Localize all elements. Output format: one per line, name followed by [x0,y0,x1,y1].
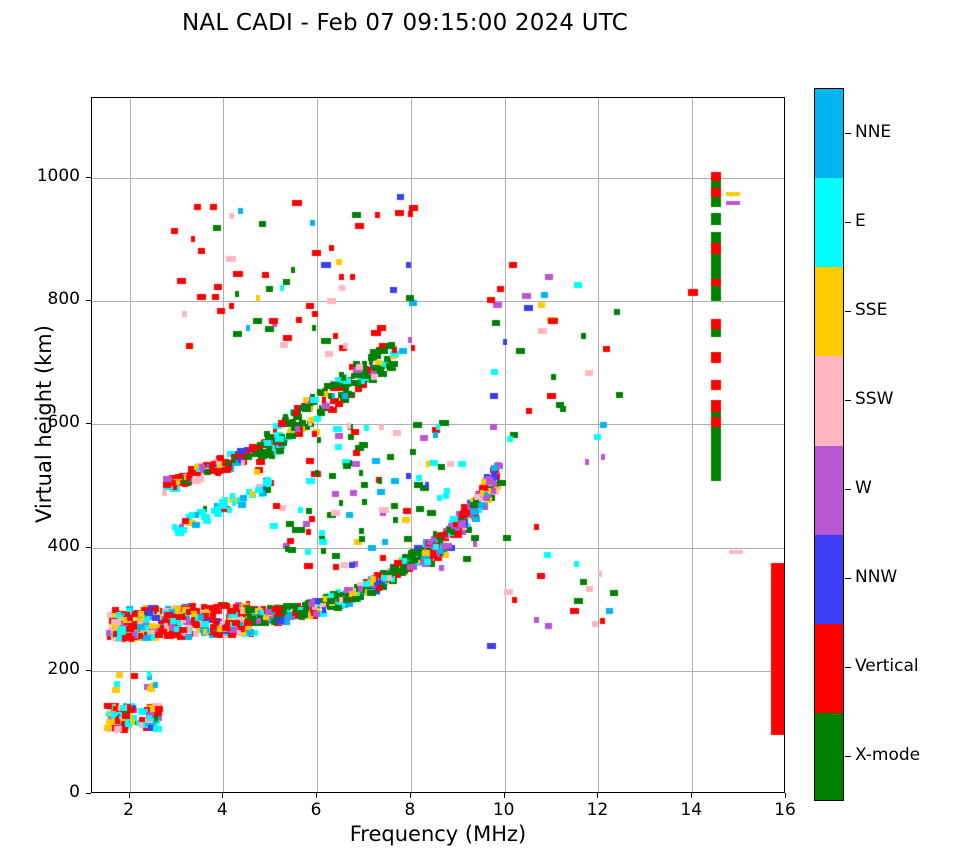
y-axis-tick [86,300,91,301]
x-axis-tick-label: 12 [572,800,622,820]
colorbar-label-ssw: SSW [855,389,893,409]
x-axis-tick [691,793,692,798]
colorbar-tick [845,311,851,312]
colorbar-label-x-mode: X-mode [855,745,920,765]
plot-area[interactable] [91,97,785,793]
colorbar-segment-nnw[interactable] [815,535,843,624]
y-axis-tick [86,547,91,548]
colorbar-label-w: W [855,478,872,498]
colorbar-label-sse: SSE [855,300,887,320]
x-axis-tick-label: 4 [197,800,247,820]
colorbar-tick [845,578,851,579]
x-axis-tick-label: 14 [666,800,716,820]
y-axis-tick [86,177,91,178]
x-axis-tick [597,793,598,798]
x-axis-tick-label: 6 [291,800,341,820]
colorbar-segment-w[interactable] [815,446,843,535]
x-axis-tick [410,793,411,798]
colorbar[interactable] [814,88,844,801]
y-axis-tick [86,423,91,424]
y-axis-tick-label: 0 [0,782,80,802]
x-axis-tick-label: 10 [479,800,529,820]
colorbar-segment-nne[interactable] [815,89,843,178]
colorbar-tick [845,756,851,757]
y-axis-tick-label: 200 [0,659,80,679]
colorbar-segment-e[interactable] [815,178,843,267]
x-axis-tick-label: 8 [385,800,435,820]
x-axis-tick [504,793,505,798]
colorbar-tick [845,222,851,223]
colorbar-segment-ssw[interactable] [815,356,843,445]
x-axis-tick [129,793,130,798]
colorbar-segment-sse[interactable] [815,267,843,356]
x-axis-tick-label: 2 [104,800,154,820]
x-axis-tick [785,793,786,798]
y-axis-tick [86,793,91,794]
x-axis-tick [222,793,223,798]
colorbar-tick [845,489,851,490]
colorbar-tick [845,667,851,668]
y-axis-label: Virtual height (km) [32,274,56,574]
x-axis-label: Frequency (MHz) [91,822,785,846]
colorbar-segment-x-mode[interactable] [815,713,843,801]
ionogram-figure: NAL CADI - Feb 07 09:15:00 2024 UTC 2468… [0,0,958,857]
scatter-plot-canvas [92,98,785,793]
colorbar-tick [845,400,851,401]
x-axis-tick [316,793,317,798]
y-axis-tick-label: 1000 [0,166,80,186]
colorbar-label-nnw: NNW [855,567,897,587]
colorbar-label-e: E [855,211,866,231]
colorbar-segment-vertical[interactable] [815,624,843,713]
colorbar-label-nne: NNE [855,122,891,142]
colorbar-tick [845,133,851,134]
y-axis-tick [86,670,91,671]
x-axis-tick-label: 16 [760,800,810,820]
page-title: NAL CADI - Feb 07 09:15:00 2024 UTC [0,10,810,36]
colorbar-label-vertical: Vertical [855,656,919,676]
